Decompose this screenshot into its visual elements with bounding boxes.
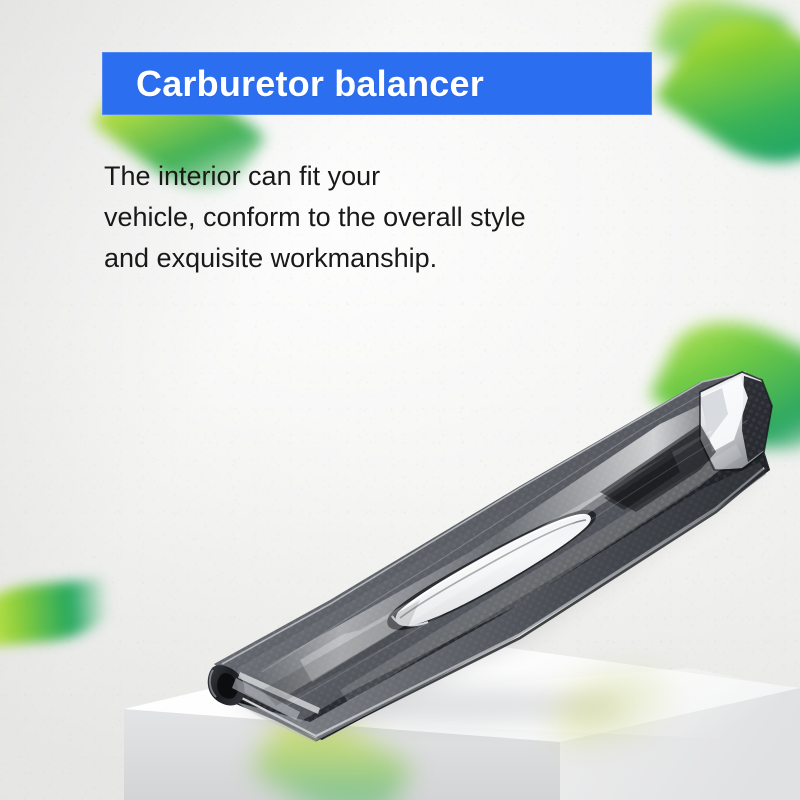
title-banner: Carburetor balancer xyxy=(102,52,652,115)
description-text: The interior can fit your vehicle, confo… xyxy=(104,156,664,279)
backdrop-shading xyxy=(0,0,800,800)
banner-title-text: Carburetor balancer xyxy=(102,52,652,115)
product-image-canvas: Carburetor balancer The interior can fit… xyxy=(0,0,800,800)
